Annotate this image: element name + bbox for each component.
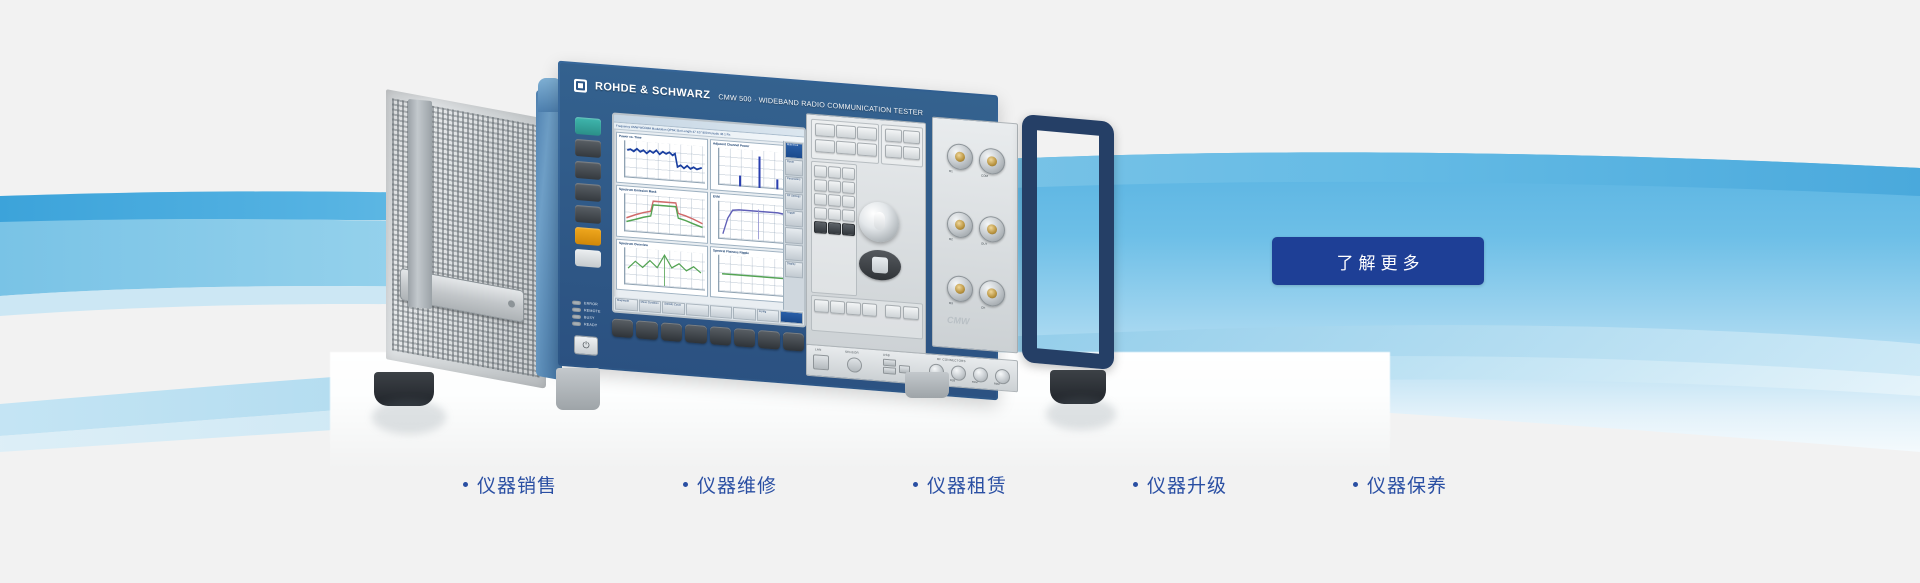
- rohde-schwarz-logo-icon: [574, 78, 587, 92]
- display-soft-button[interactable]: Config: [757, 309, 780, 323]
- overview-trace-icon: [624, 247, 705, 291]
- display-soft-button[interactable]: Magnitude: [615, 298, 638, 312]
- status-led-remote: REMOTE: [572, 307, 612, 314]
- keypad-key[interactable]: [836, 141, 856, 156]
- numeric-key[interactable]: [814, 165, 827, 178]
- display-soft-button[interactable]: Meas Condition: [639, 299, 662, 313]
- numeric-key[interactable]: [814, 207, 827, 220]
- feature-item-upgrade[interactable]: 仪器升级: [1133, 471, 1227, 498]
- rf-label: R1: [949, 169, 953, 173]
- cmw-logo: CMW: [947, 315, 970, 327]
- keypad-key[interactable]: [903, 146, 920, 160]
- sem-mask-icon: [624, 194, 705, 238]
- status-led-busy: BUSY: [572, 314, 612, 321]
- display-side-button[interactable]: Multi Eval: [785, 142, 803, 159]
- bezel-soft-key[interactable]: [783, 332, 804, 352]
- led-indicator-icon: [572, 300, 581, 305]
- rf-label: COM: [981, 173, 988, 178]
- display-side-button[interactable]: Display: [785, 261, 803, 278]
- numeric-key[interactable]: [842, 209, 855, 222]
- bezel-soft-key[interactable]: [710, 326, 731, 346]
- sys-key[interactable]: [575, 249, 601, 268]
- numeric-key[interactable]: [828, 166, 841, 179]
- rf-connector-out[interactable]: [979, 215, 1005, 243]
- menu-key[interactable]: [575, 205, 601, 224]
- hero-banner: ROHDE & SCHWARZ CMW 500 · WIDEBAND RADIO…: [0, 0, 1920, 583]
- feature-item-rental[interactable]: 仪器租赁: [913, 471, 1007, 498]
- status-led-ready: READY: [572, 321, 612, 328]
- keypad-key[interactable]: [885, 128, 902, 142]
- bullet-icon: [1133, 482, 1138, 487]
- numeric-key[interactable]: [842, 167, 855, 180]
- display-side-buttons: Multi Eval Route Parameters RF Settings …: [783, 141, 804, 312]
- display-side-button[interactable]: Trigger: [785, 210, 803, 227]
- bullet-icon: [463, 482, 468, 487]
- tab-key[interactable]: [828, 222, 841, 235]
- keypad-key[interactable]: [903, 130, 920, 144]
- keypad-block: [806, 113, 926, 354]
- led-label: ERROR: [584, 301, 598, 306]
- bottom-key[interactable]: [846, 301, 861, 315]
- rf-connector-r2[interactable]: [947, 211, 973, 239]
- display-side-button[interactable]: RF Settings: [785, 193, 803, 210]
- backspace-key[interactable]: [814, 221, 827, 234]
- numeric-key[interactable]: [814, 179, 827, 192]
- bezel-soft-key[interactable]: [661, 322, 682, 342]
- display-soft-button[interactable]: [780, 311, 803, 325]
- display-side-button[interactable]: [785, 227, 803, 244]
- feature-item-repair[interactable]: 仪器维修: [683, 471, 777, 498]
- brand-name: ROHDE & SCHWARZ: [595, 80, 710, 101]
- instrument-cmw500: ROHDE & SCHWARZ CMW 500 · WIDEBAND RADIO…: [386, 80, 1086, 380]
- bullet-icon: [913, 482, 918, 487]
- rf-connector-block: R1 COM R2 OUT R3 CH CMW: [932, 117, 1018, 354]
- feature-label: 仪器升级: [1147, 471, 1227, 498]
- power-button[interactable]: ⏻: [574, 335, 598, 356]
- bezel-soft-key[interactable]: [758, 330, 779, 350]
- instrument-leg: [905, 372, 949, 398]
- rf-connector-com[interactable]: [979, 147, 1005, 175]
- bezel-soft-key[interactable]: [612, 318, 633, 338]
- keypad-key[interactable]: [885, 144, 902, 158]
- io-group-label: RF CONNECTORS: [937, 357, 966, 363]
- learn-more-button[interactable]: 了解更多: [1272, 237, 1484, 285]
- arrow-pad[interactable]: [859, 248, 901, 281]
- rf-label: CH: [981, 305, 985, 309]
- keypad-key[interactable]: [815, 123, 835, 138]
- keypad-key[interactable]: [815, 139, 835, 154]
- rf-connector-r3[interactable]: [947, 275, 973, 303]
- foot-reflection: [372, 400, 446, 434]
- numeric-key[interactable]: [828, 194, 841, 207]
- power-icon: ⏻: [582, 341, 589, 351]
- display-soft-button[interactable]: [733, 307, 756, 321]
- lan-port-icon: [813, 354, 829, 370]
- rotary-knob[interactable]: [859, 200, 899, 243]
- display-soft-button[interactable]: Statistic Count: [662, 301, 685, 315]
- numeric-key[interactable]: [814, 193, 827, 206]
- feature-item-maintenance[interactable]: 仪器保养: [1353, 471, 1447, 498]
- numeric-key[interactable]: [842, 195, 855, 208]
- rf-label: R2: [949, 237, 953, 241]
- display-side-button[interactable]: [785, 244, 803, 261]
- led-indicator-icon: [572, 314, 581, 319]
- bottom-key[interactable]: [885, 304, 901, 318]
- rf-connector-r1[interactable]: [947, 143, 973, 171]
- panel-spectrum-overview[interactable]: Spectrum Overview: [616, 238, 708, 297]
- feature-label: 仪器销售: [477, 471, 557, 498]
- bezel-soft-key[interactable]: [636, 320, 657, 340]
- io-rf-label: R2B: [950, 379, 955, 382]
- display-soft-button[interactable]: [710, 305, 733, 319]
- usb-port-icon: [883, 359, 896, 367]
- bottom-key[interactable]: [862, 303, 877, 317]
- rf-connector-ch[interactable]: [979, 279, 1005, 307]
- instrument-display[interactable]: Frequency CMW-WCDMA Modulation QPSK Slot…: [612, 112, 806, 327]
- keypad-key[interactable]: [857, 126, 877, 141]
- io-group-label: USB: [883, 353, 890, 358]
- numeric-key[interactable]: [828, 208, 841, 221]
- bezel-soft-key[interactable]: [685, 324, 706, 344]
- led-indicator-icon: [572, 321, 581, 326]
- save-recall-key[interactable]: [575, 161, 601, 180]
- feature-label: 仪器保养: [1367, 471, 1447, 498]
- bottom-key[interactable]: [830, 300, 845, 314]
- panel-power-vs-time[interactable]: Power vs. Time: [616, 132, 708, 191]
- bullet-icon: [683, 482, 688, 487]
- sensor-port-icon: [847, 357, 862, 373]
- carrying-handle: [1022, 114, 1114, 370]
- front-key-column: [572, 117, 606, 300]
- print-key[interactable]: [575, 139, 601, 158]
- feature-list: 仪器销售 仪器维修 仪器租赁 仪器升级 仪器保养: [0, 462, 1920, 506]
- io-group-label: LAN: [815, 347, 821, 352]
- panel-spectrum-emission-mask[interactable]: Spectrum Emission Mask: [616, 185, 708, 244]
- usb-port-icon: [883, 367, 896, 375]
- model-name: CMW 500 · WIDEBAND RADIO COMMUNICATION T…: [718, 92, 923, 117]
- preset-key[interactable]: [575, 117, 601, 136]
- display-side-button[interactable]: Route: [785, 159, 803, 176]
- led-indicator-icon: [572, 307, 581, 312]
- feature-item-sales[interactable]: 仪器销售: [463, 471, 557, 498]
- bottom-key[interactable]: [814, 299, 829, 313]
- keypad-key[interactable]: [836, 125, 856, 140]
- setup-key[interactable]: [575, 183, 601, 202]
- led-label: BUSY: [584, 315, 595, 320]
- io-rf-label: R3M: [994, 382, 999, 385]
- feature-label: 仪器维修: [697, 471, 777, 498]
- numeric-key[interactable]: [828, 180, 841, 193]
- io-rf-label: R1M: [972, 381, 977, 384]
- io-group-label: SENSOR: [845, 350, 859, 355]
- help-key[interactable]: [575, 227, 601, 246]
- foot-reflection: [1046, 398, 1116, 430]
- carrying-handle-inner: [408, 99, 432, 309]
- status-led-group: ERROR REMOTE BUSY READY: [572, 300, 612, 331]
- display-side-button[interactable]: Parameters: [785, 176, 803, 193]
- bottom-key[interactable]: [903, 306, 919, 320]
- bullet-icon: [1353, 482, 1358, 487]
- measurement-grid: Power vs. Time Adjacent Channel Power: [614, 130, 804, 307]
- instrument-leg: [556, 368, 600, 410]
- feature-label: 仪器租赁: [927, 471, 1007, 498]
- power-trace-icon: [624, 140, 705, 184]
- rf-label: R3: [949, 301, 953, 305]
- display-soft-button[interactable]: [686, 303, 709, 317]
- keypad-key[interactable]: [857, 142, 877, 157]
- led-label: READY: [584, 322, 597, 327]
- numeric-key[interactable]: [842, 181, 855, 194]
- led-label: REMOTE: [584, 308, 601, 313]
- rf-label: OUT: [981, 241, 987, 245]
- enter-key[interactable]: [842, 223, 855, 236]
- bezel-soft-key[interactable]: [734, 328, 755, 348]
